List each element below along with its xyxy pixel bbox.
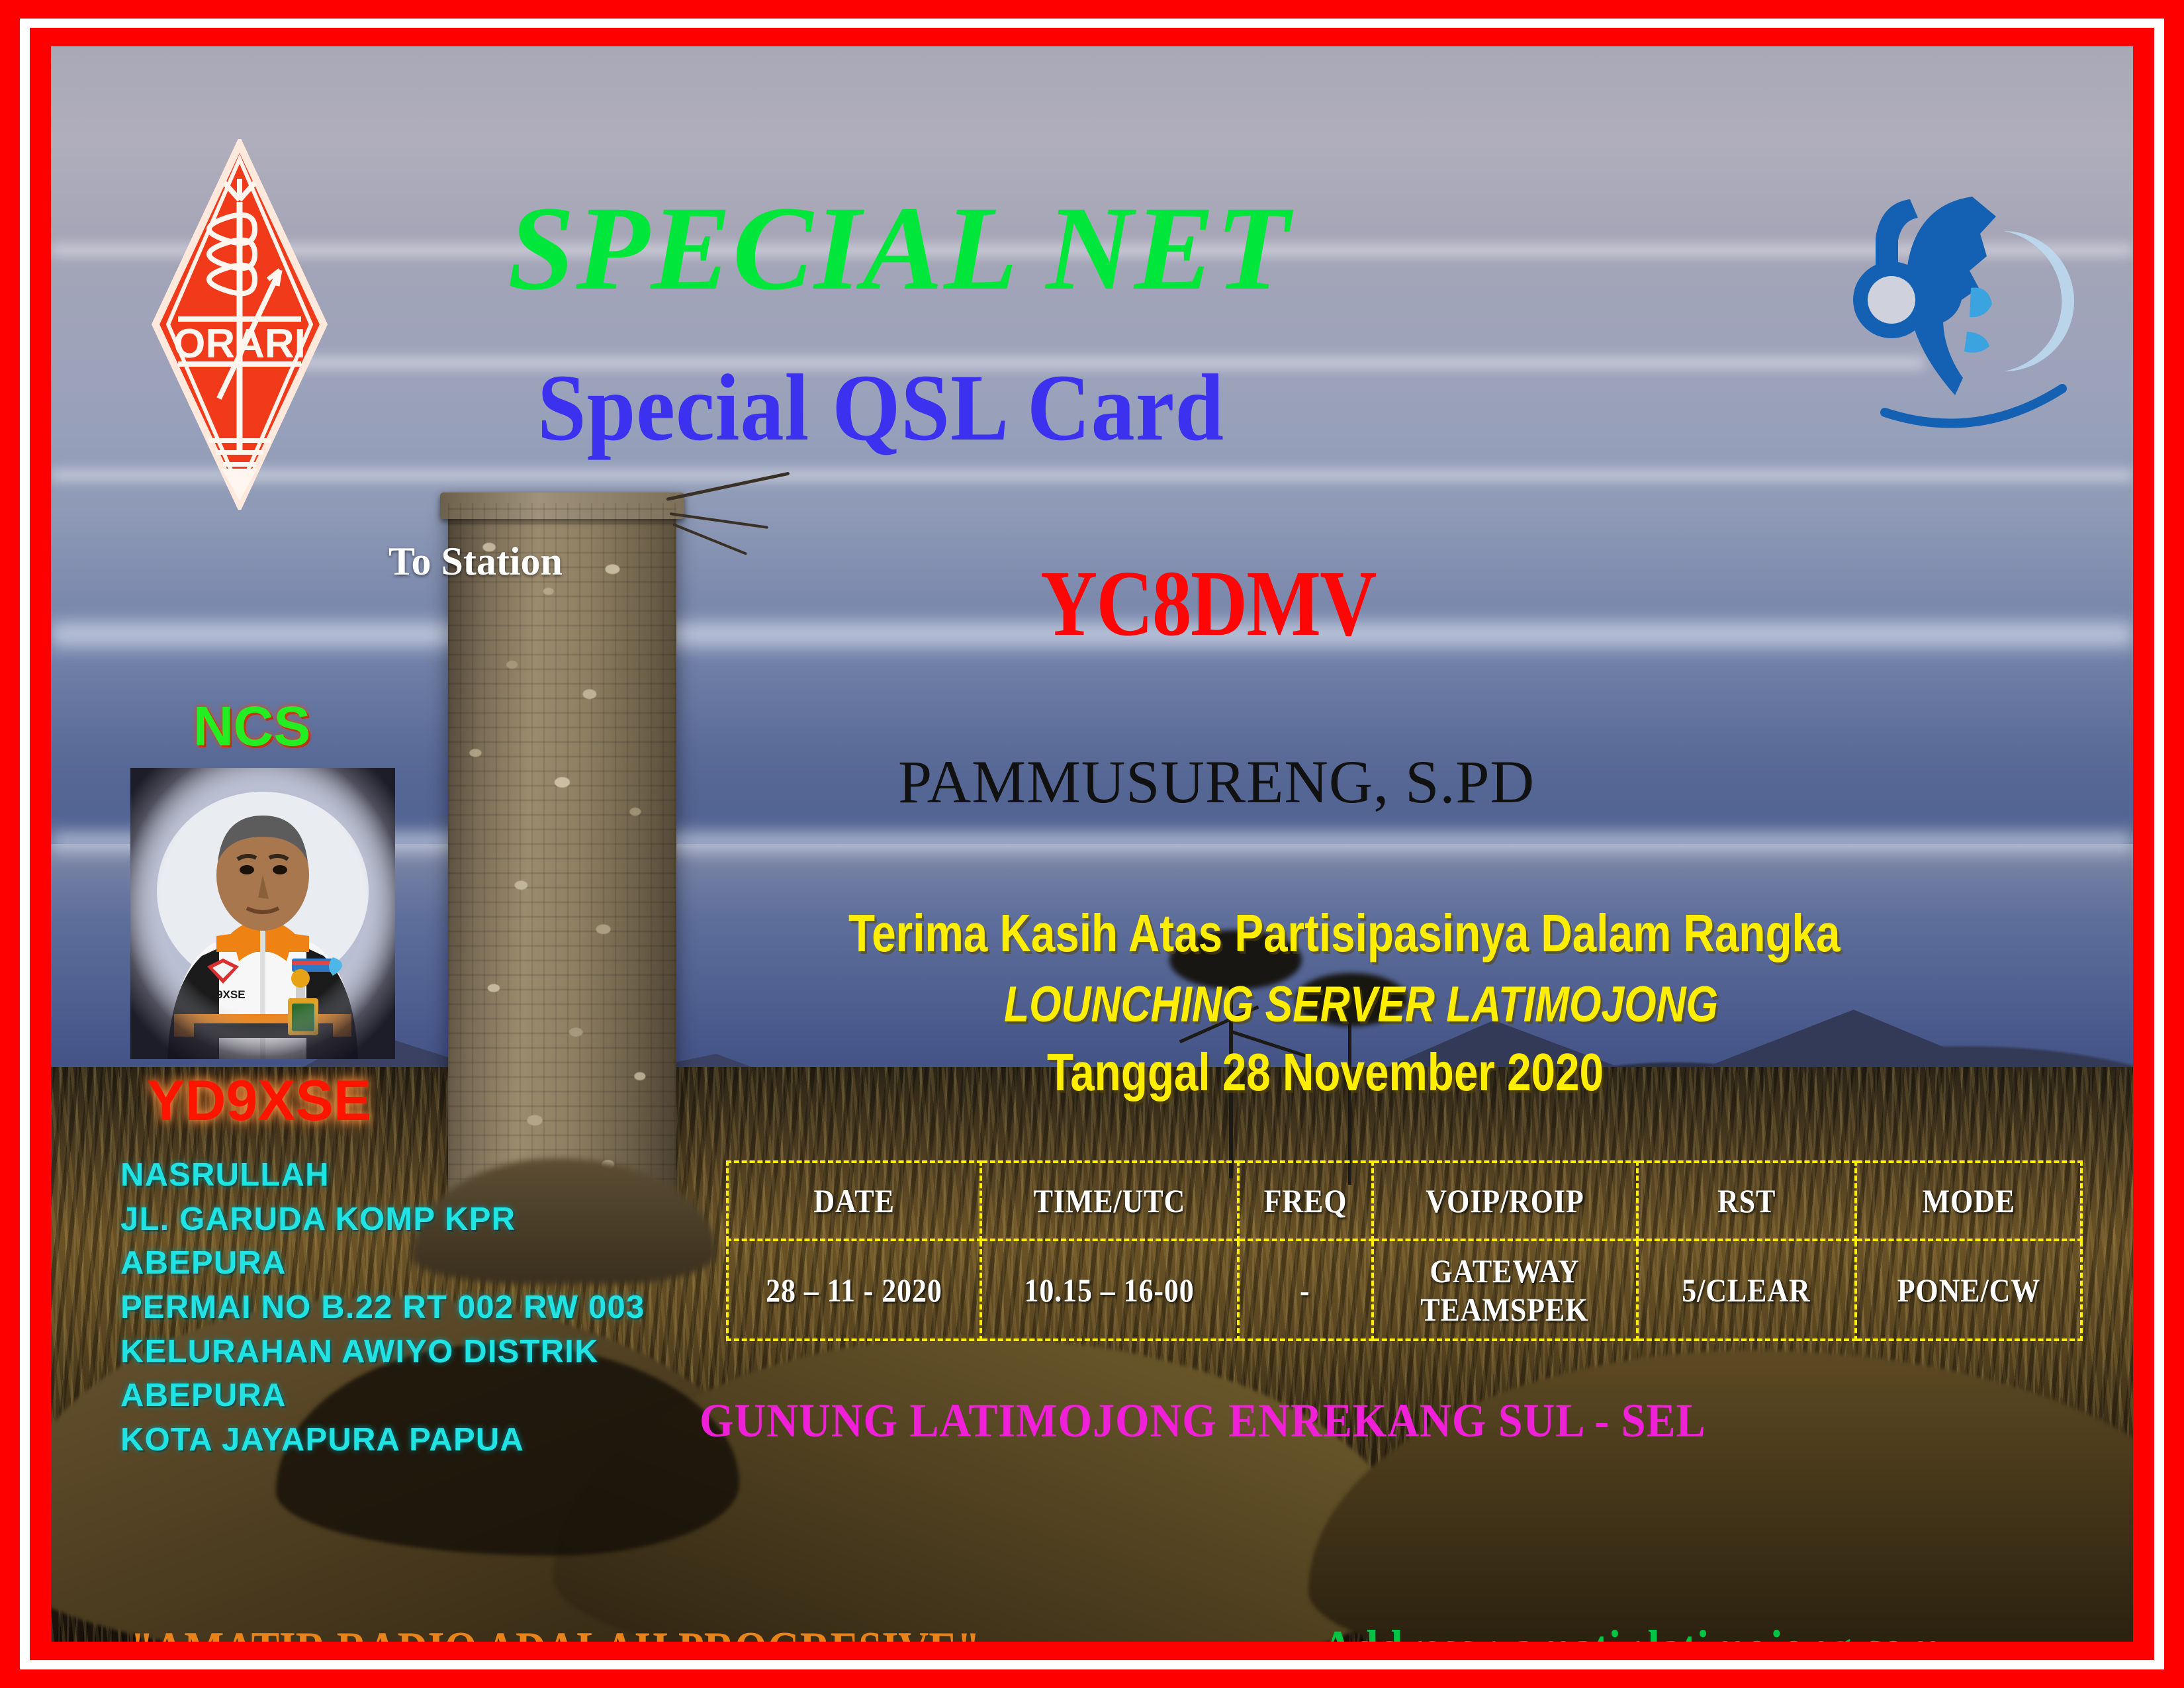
address-line: NASRULLAH bbox=[120, 1153, 645, 1197]
operator-name: PAMMUSURENG, S.PD bbox=[898, 751, 1535, 812]
header-voip-roip: VOIP/ROIP bbox=[1373, 1162, 1637, 1240]
qsl-card: ORARI bbox=[0, 0, 2184, 1688]
address-line: ABEPURA bbox=[120, 1241, 645, 1286]
cell-mode: PONE/CW bbox=[1856, 1240, 2081, 1340]
card-background-photo: ORARI bbox=[51, 46, 2133, 1642]
table-header-row: DATE TIME/UTC FREQ VOIP/ROIP RST MODE bbox=[727, 1162, 2081, 1240]
cell-rst: 5/CLEAR bbox=[1637, 1240, 1856, 1340]
callsign-heading: YC8DMV bbox=[1040, 556, 1376, 650]
cell-date: 28 – 11 - 2020 bbox=[727, 1240, 981, 1340]
cairn-stone-texture bbox=[448, 503, 676, 1238]
header-mode: MODE bbox=[1856, 1162, 2081, 1240]
stone-cairn-monument bbox=[448, 503, 676, 1238]
header-freq: FREQ bbox=[1238, 1162, 1373, 1240]
event-title-line: LOUNCHING SERVER LATIMOJONG bbox=[1004, 980, 1718, 1030]
address-line: KOTA JAYAPURA PAPUA bbox=[120, 1418, 645, 1462]
header-date: DATE bbox=[727, 1162, 981, 1240]
address-line: KELURAHAN AWIYO DISTRIK bbox=[120, 1330, 645, 1374]
address-line: ABEPURA bbox=[120, 1374, 645, 1418]
orari-logo-text: ORARI bbox=[173, 321, 306, 367]
page-subtitle: Special QSL Card bbox=[537, 361, 1224, 456]
ncs-label: NCS bbox=[193, 698, 310, 754]
footer-web-address: Address : amatir.latimojong.com bbox=[1322, 1623, 1941, 1642]
header-time: TIME/UTC bbox=[981, 1162, 1238, 1240]
location-line: GUNUNG LATIMOJONG ENREKANG SUL - SEL bbox=[700, 1397, 1706, 1444]
event-thanks-line: Terima Kasih Atas Partisipasinya Dalam R… bbox=[848, 907, 1840, 960]
operator-portrait-photo: YD9XSE bbox=[130, 768, 395, 1059]
to-station-label: To Station bbox=[388, 541, 563, 581]
headset-profile-logo bbox=[1841, 162, 2119, 440]
address-line: JL. GARUDA KOMP KPR bbox=[120, 1197, 645, 1242]
cell-time: 10.15 – 16-00 bbox=[981, 1240, 1238, 1340]
table-row: 28 – 11 - 2020 10.15 – 16-00 - GATEWAY T… bbox=[727, 1240, 2081, 1340]
event-date-line: Tanggal 28 November 2020 bbox=[1047, 1046, 1604, 1099]
cell-voip-roip: GATEWAY TEAMSPEK bbox=[1373, 1240, 1637, 1340]
cell-freq: - bbox=[1238, 1240, 1373, 1340]
page-title: SPECIAL NET bbox=[508, 189, 1291, 309]
address-line: PERMAI NO B.22 RT 002 RW 003 bbox=[120, 1286, 645, 1330]
orari-logo: ORARI bbox=[150, 139, 329, 510]
address-block: NASRULLAH JL. GARUDA KOMP KPR ABEPURA PE… bbox=[120, 1153, 645, 1462]
footer-motto: "AMATIR RADIO ADALAH PROGRESIVE" bbox=[130, 1625, 980, 1642]
ncs-callsign: YD9XSE bbox=[147, 1072, 371, 1129]
header-rst: RST bbox=[1637, 1162, 1856, 1240]
qso-log-table: DATE TIME/UTC FREQ VOIP/ROIP RST MODE 28… bbox=[726, 1160, 2083, 1341]
